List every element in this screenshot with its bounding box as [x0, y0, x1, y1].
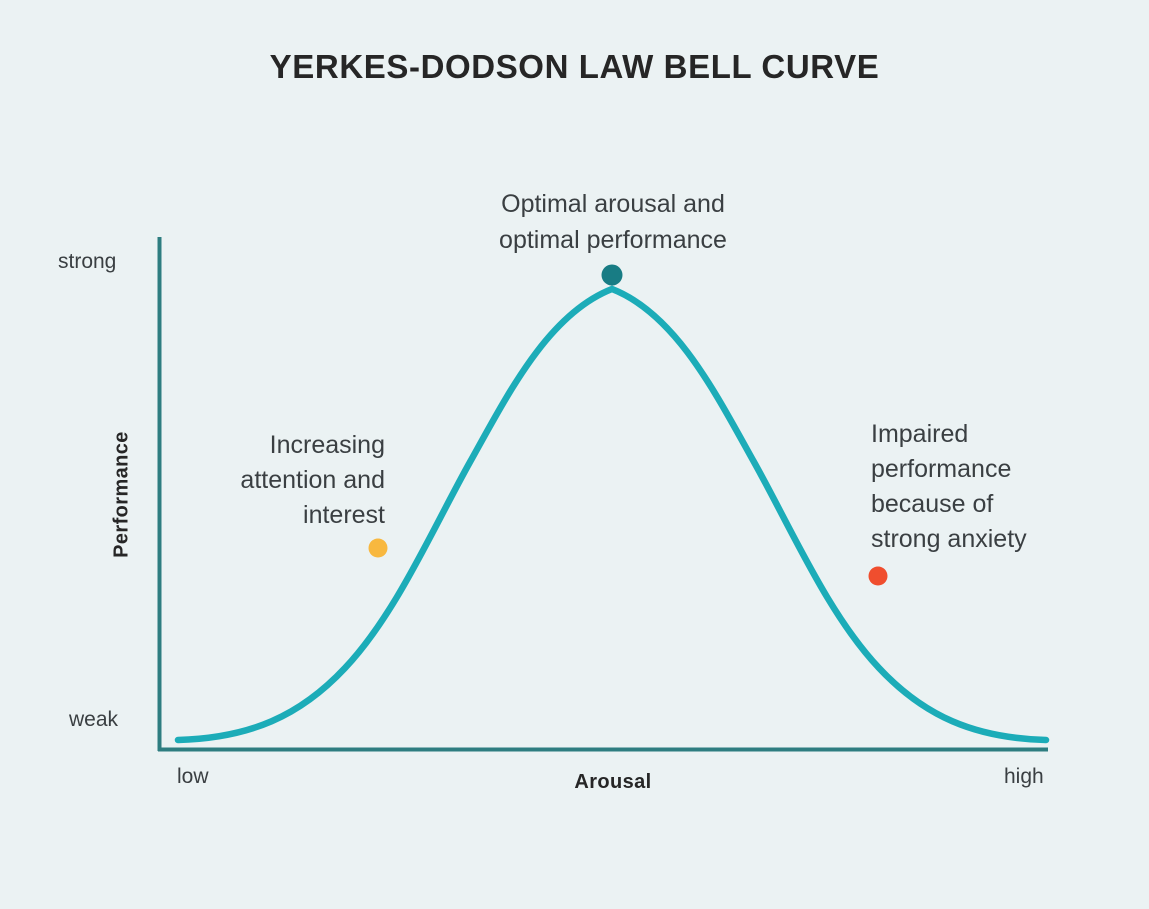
annotation-optimal: Optimal arousal and optimal performance — [413, 186, 813, 258]
y-axis-tick-weak: weak — [69, 708, 118, 732]
x-axis-tick-high: high — [1004, 765, 1044, 789]
chart-canvas: YERKES-DODSON LAW BELL CURVE Optimal aro… — [0, 0, 1149, 909]
rising-point-marker — [369, 539, 388, 558]
optimal-point-marker — [602, 265, 623, 286]
x-axis-title: Arousal — [463, 771, 763, 794]
annotation-impaired-performance: Impaired performance because of strong a… — [871, 417, 1106, 557]
annotation-increasing-attention: Increasing attention and interest — [100, 428, 385, 533]
y-axis-tick-strong: strong — [58, 250, 116, 274]
falling-point-marker — [869, 567, 888, 586]
y-axis-title: Performance — [111, 365, 134, 625]
x-axis-tick-low: low — [177, 765, 209, 789]
